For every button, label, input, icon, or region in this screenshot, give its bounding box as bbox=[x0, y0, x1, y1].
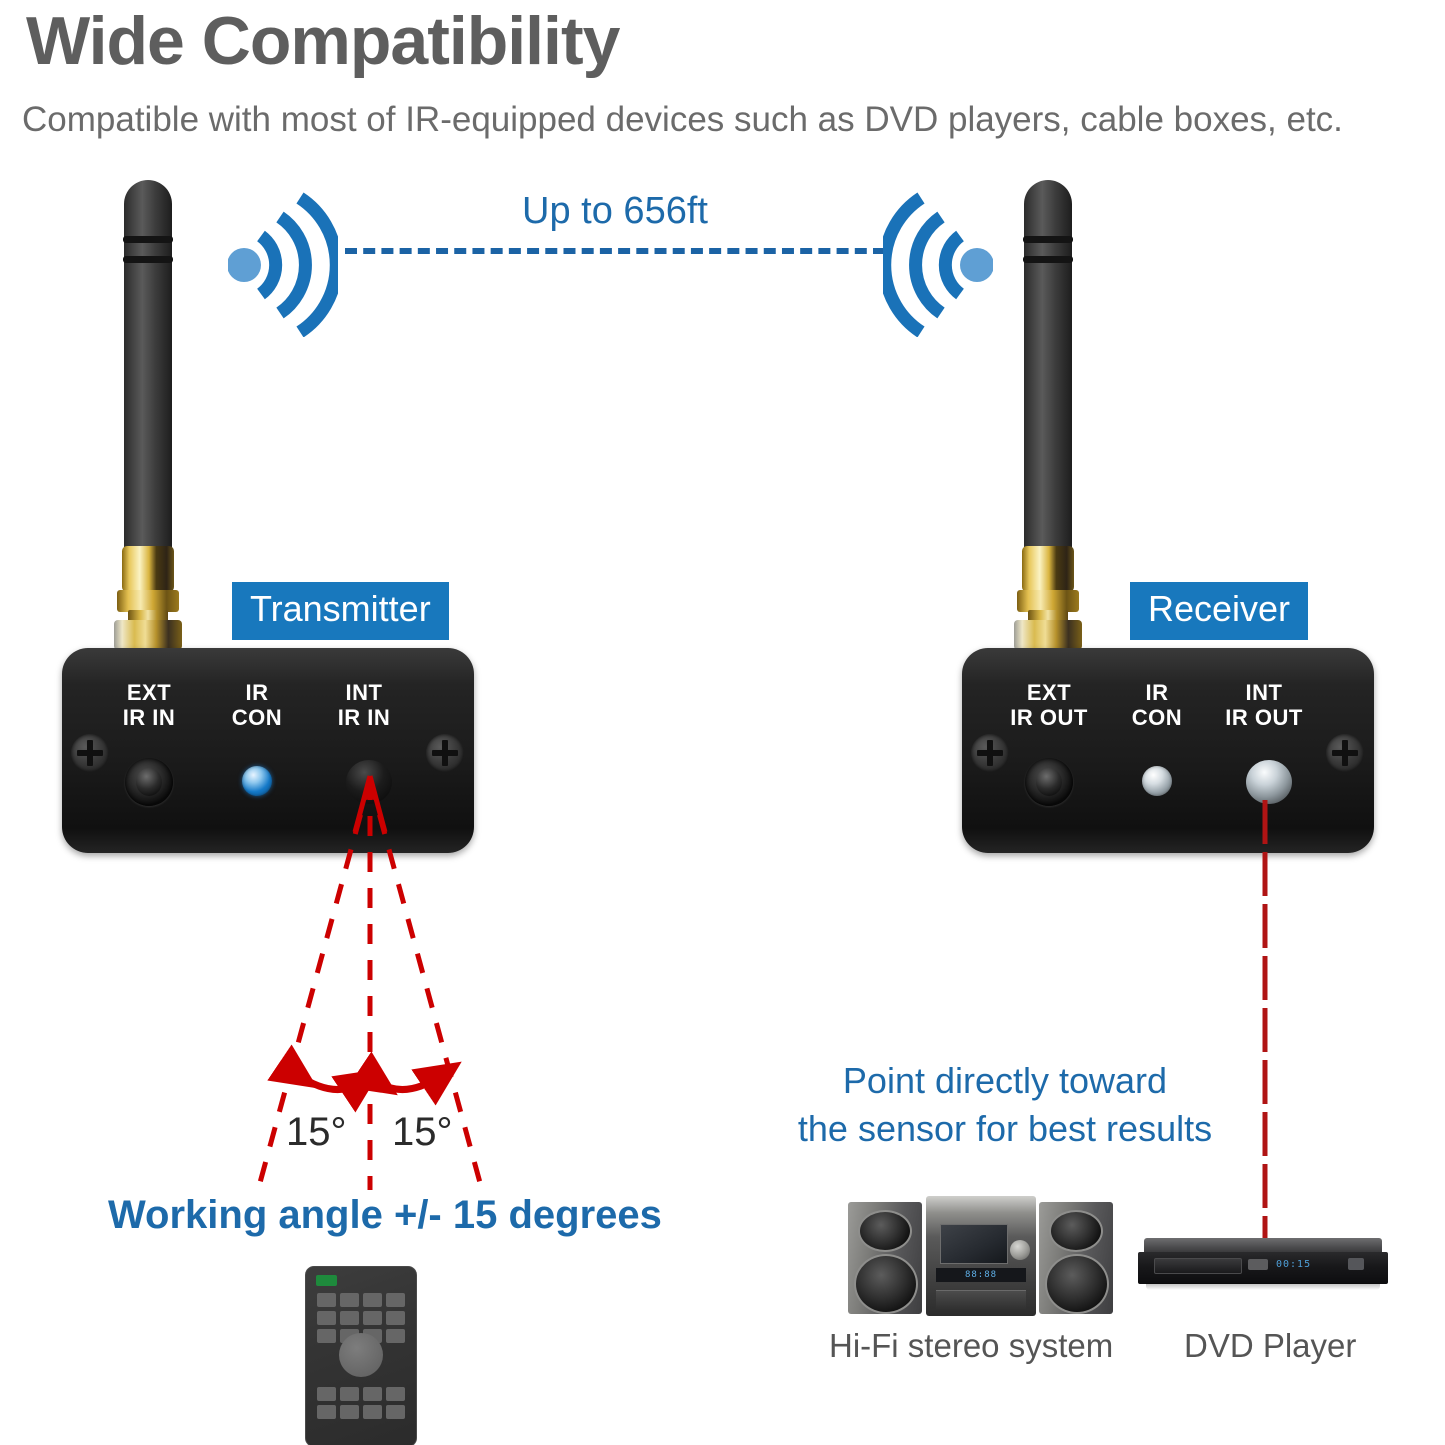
remote-key[interactable] bbox=[317, 1387, 336, 1401]
remote-key[interactable] bbox=[317, 1405, 336, 1419]
antenna-ring bbox=[1023, 256, 1073, 263]
screw-left bbox=[71, 734, 109, 772]
transmitter-badge: Transmitter bbox=[232, 582, 449, 640]
sma-band bbox=[1017, 590, 1079, 612]
remote-key[interactable] bbox=[317, 1329, 336, 1343]
usb-port[interactable] bbox=[1348, 1258, 1364, 1270]
remote-keypad-bottom bbox=[317, 1387, 405, 1419]
tweeter bbox=[858, 1210, 912, 1252]
page-title: Wide Compatibility bbox=[26, 2, 619, 80]
ir-con-led bbox=[1142, 766, 1172, 796]
dvd-display: 00:15 bbox=[1276, 1258, 1334, 1271]
sma-hex-nut bbox=[1022, 546, 1074, 592]
receiver-badge: Receiver bbox=[1130, 582, 1308, 640]
aiming-note-line1: Point directly toward bbox=[843, 1060, 1167, 1101]
sma-band bbox=[117, 590, 179, 612]
remote-key[interactable] bbox=[386, 1329, 405, 1343]
sma-connector bbox=[114, 546, 182, 650]
remote-key[interactable] bbox=[363, 1405, 382, 1419]
port-label-int-ir-out: INT IR OUT bbox=[1199, 680, 1329, 730]
tweeter bbox=[1049, 1210, 1103, 1252]
sma-base-nut bbox=[1014, 620, 1082, 650]
volume-knob[interactable] bbox=[1010, 1240, 1030, 1260]
infographic-page: Wide Compatibility Compatible with most … bbox=[0, 0, 1445, 1445]
receiver-device: EXT IR OUT IR CON INT IR OUT bbox=[962, 648, 1374, 853]
ext-ir-out-jack[interactable] bbox=[1025, 758, 1073, 806]
working-angle-caption: Working angle +/- 15 degrees bbox=[108, 1193, 662, 1238]
angle-arc-left bbox=[298, 1075, 362, 1090]
remote-indicator-led bbox=[316, 1275, 337, 1286]
angle-arc-right bbox=[378, 1075, 442, 1090]
ir-sensor-window bbox=[1248, 1259, 1268, 1270]
transmitter-antenna bbox=[110, 180, 186, 650]
range-label: Up to 656ft bbox=[430, 190, 800, 233]
remote-key[interactable] bbox=[386, 1293, 405, 1307]
remote-key[interactable] bbox=[363, 1387, 382, 1401]
angle-value-left: 15° bbox=[286, 1110, 347, 1155]
aiming-note-line2: the sensor for best results bbox=[798, 1108, 1212, 1149]
dvd-player: 00:15 bbox=[1138, 1238, 1388, 1298]
antenna-ring bbox=[123, 256, 173, 263]
screw-right bbox=[426, 734, 464, 772]
remote-key[interactable] bbox=[363, 1293, 382, 1307]
aiming-note: Point directly toward the sensor for bes… bbox=[770, 1057, 1240, 1153]
disc-tray-slot[interactable] bbox=[1154, 1258, 1242, 1274]
remote-key[interactable] bbox=[317, 1293, 336, 1307]
cassette-tray[interactable] bbox=[936, 1290, 1026, 1309]
ext-ir-in-jack[interactable] bbox=[125, 758, 173, 806]
caption-hifi: Hi-Fi stereo system bbox=[829, 1327, 1113, 1365]
ir-beam-cone bbox=[180, 770, 580, 1200]
remote-key[interactable] bbox=[340, 1293, 359, 1307]
dvd-front-panel: 00:15 bbox=[1138, 1252, 1388, 1284]
dvd-shadow bbox=[1146, 1283, 1380, 1290]
stereo-display: 88:88 bbox=[936, 1268, 1026, 1282]
receiver-to-dvd-pointer-line bbox=[1255, 800, 1275, 1270]
port-label-int-ir-in: INT IR IN bbox=[299, 680, 429, 730]
range-dashed-line bbox=[345, 248, 885, 254]
remote-key[interactable] bbox=[386, 1405, 405, 1419]
sma-connector bbox=[1014, 546, 1082, 650]
speaker-right bbox=[1039, 1202, 1113, 1314]
antenna-ring bbox=[1023, 236, 1073, 243]
remote-key[interactable] bbox=[317, 1311, 336, 1325]
speaker-left bbox=[848, 1202, 922, 1314]
remote-key[interactable] bbox=[363, 1311, 382, 1325]
caption-dvd: DVD Player bbox=[1184, 1327, 1356, 1365]
woofer bbox=[1045, 1254, 1109, 1314]
remote-key[interactable] bbox=[340, 1387, 359, 1401]
screw-right bbox=[1326, 734, 1364, 772]
receiver-antenna bbox=[1010, 180, 1086, 650]
hifi-stereo-system: 88:88 bbox=[848, 1196, 1113, 1316]
sma-base-nut bbox=[114, 620, 182, 650]
ir-remote-control bbox=[305, 1266, 417, 1445]
antenna-ring bbox=[123, 236, 173, 243]
angle-value-right: 15° bbox=[392, 1110, 453, 1155]
remote-dpad[interactable] bbox=[339, 1333, 383, 1377]
wifi-signal-icon-right bbox=[883, 192, 993, 342]
remote-key[interactable] bbox=[386, 1387, 405, 1401]
stereo-screen bbox=[940, 1224, 1008, 1264]
screw-left bbox=[971, 734, 1009, 772]
page-subtitle: Compatible with most of IR-equipped devi… bbox=[22, 100, 1343, 140]
stereo-center-unit: 88:88 bbox=[926, 1196, 1036, 1316]
remote-key[interactable] bbox=[340, 1405, 359, 1419]
remote-key[interactable] bbox=[340, 1311, 359, 1325]
remote-key[interactable] bbox=[386, 1311, 405, 1325]
int-ir-out-emitter bbox=[1246, 760, 1292, 804]
woofer bbox=[854, 1254, 918, 1314]
wifi-signal-icon-left bbox=[228, 192, 338, 342]
sma-hex-nut bbox=[122, 546, 174, 592]
